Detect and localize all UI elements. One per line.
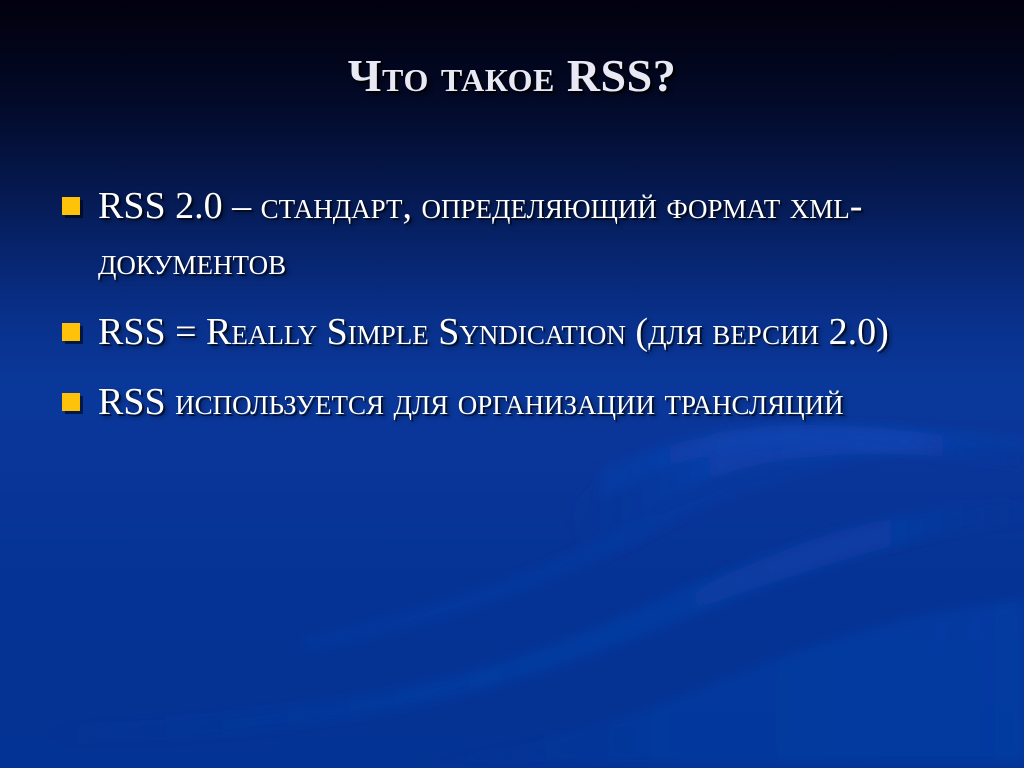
- list-item-text: RSS 2.0 – стандарт, определяющий формат …: [98, 185, 862, 283]
- page-title: Что такое RSS?: [348, 52, 676, 100]
- list-item: RSS = Really Simple Syndication (для вер…: [58, 304, 938, 360]
- square-bullet-icon: [62, 323, 80, 341]
- list-item: RSS 2.0 – стандарт, определяющий формат …: [58, 178, 938, 290]
- presentation-slide: Что такое RSS? RSS 2.0 – стандарт, опред…: [0, 0, 1024, 768]
- square-bullet-icon: [62, 393, 80, 411]
- list-item-text: RSS = Really Simple Syndication (для вер…: [98, 311, 889, 353]
- list-item: RSS используется для организации трансля…: [58, 374, 938, 430]
- bullet-list: RSS 2.0 – стандарт, определяющий формат …: [58, 178, 938, 430]
- list-item-text: RSS используется для организации трансля…: [98, 381, 844, 423]
- title-block: Что такое RSS?: [60, 52, 964, 100]
- square-bullet-icon: [62, 197, 80, 215]
